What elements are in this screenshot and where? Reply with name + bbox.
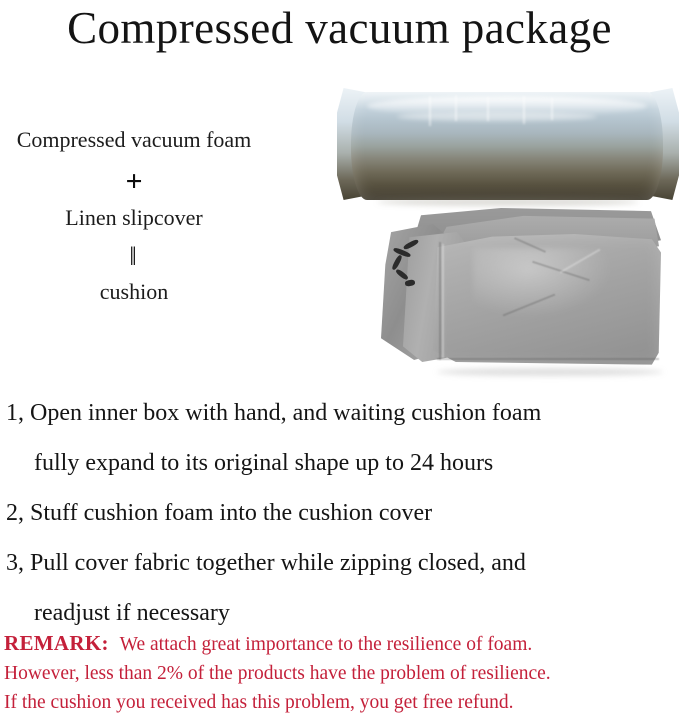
step-1-line-1: 1, Open inner box with hand, and waiting… (6, 400, 541, 426)
ingredient-equation: Compressed vacuum foam + Linen slipcover… (0, 125, 268, 307)
linen-slipcover-photo (381, 208, 679, 378)
equation-result-cushion: cushion (0, 277, 268, 307)
step-2-line-1: 2, Stuff cushion foam into the cushion c… (6, 500, 432, 526)
equation-term-slipcover: Linen slipcover (0, 203, 268, 233)
roll-drop-shadow (377, 198, 639, 206)
instruction-step-2: 2, Stuff cushion foam into the cushion c… (0, 488, 660, 538)
product-photo-group (335, 86, 679, 382)
cover-crease-1-hi (442, 244, 444, 358)
remark-label: REMARK: (4, 631, 109, 655)
equation-term-foam: Compressed vacuum foam (0, 125, 268, 155)
instruction-step-3: 3, Pull cover fabric together while zipp… (0, 538, 660, 638)
cover-bottom-hem (437, 358, 659, 360)
roll-crease-a (429, 96, 431, 126)
instruction-step-1: 1, Open inner box with hand, and waiting… (0, 388, 660, 488)
zipper-pull-icon (387, 242, 427, 296)
remark-first-line: REMARK: We attach great importance to th… (4, 629, 676, 659)
remark-line-3: If the cushion you received has this pro… (4, 688, 676, 717)
roll-crease-e (551, 98, 553, 120)
roll-crease-c (487, 97, 489, 121)
remark-line-1: We attach great importance to the resili… (114, 634, 533, 655)
remark-block: REMARK: We attach great importance to th… (4, 629, 676, 717)
remark-line-2: However, less than 2% of the products ha… (4, 659, 676, 688)
cover-crease-1 (439, 242, 441, 360)
plus-icon: + (0, 161, 268, 203)
compressed-foam-roll-photo (337, 86, 679, 204)
roll-highlight-secondary (397, 112, 597, 121)
cover-highlight (473, 248, 613, 318)
roll-crease-b (455, 95, 457, 121)
page-title: Compressed vacuum package (0, 0, 679, 58)
instruction-steps: 1, Open inner box with hand, and waiting… (0, 388, 660, 638)
step-1-line-2: fully expand to its original shape up to… (6, 438, 660, 488)
cover-drop-shadow (437, 368, 663, 376)
step-3-line-1: 3, Pull cover fabric together while zipp… (6, 550, 526, 576)
equals-icon: ‖ (0, 237, 268, 277)
roll-crease-d (523, 96, 525, 124)
